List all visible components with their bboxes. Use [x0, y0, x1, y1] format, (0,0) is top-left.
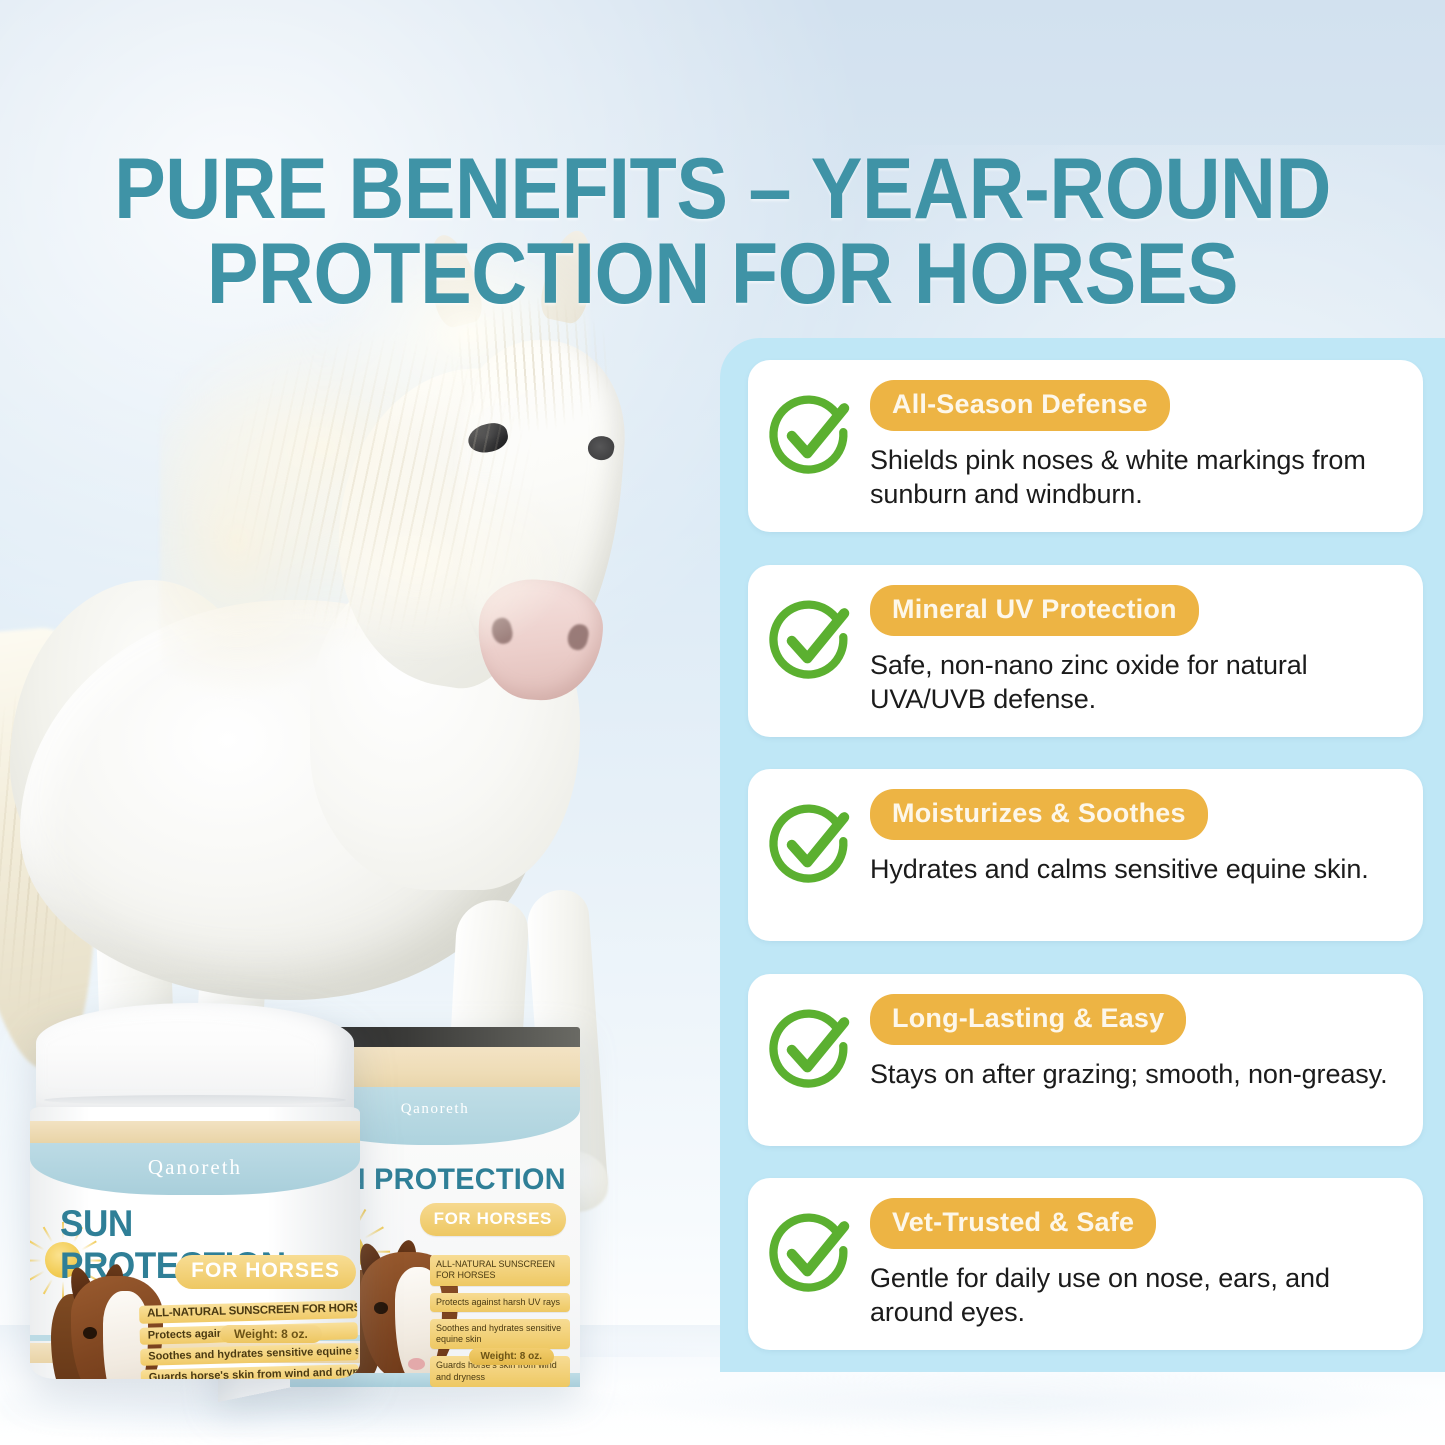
headline-line-2: PROTECTION FOR HORSES — [72, 232, 1373, 317]
foal-eye — [374, 1302, 389, 1314]
box-bullet: Protects against harsh UV rays — [430, 1293, 570, 1312]
box-benefit-list: ALL-NATURAL SUNSCREEN FOR HORSES Protect… — [430, 1255, 570, 1387]
benefit-card-content: Moisturizes & Soothes Hydrates and calms… — [870, 785, 1403, 886]
benefit-description: Stays on after grazing; smooth, non-grea… — [870, 1057, 1403, 1091]
jar-weight-label: Weight: 8 oz. — [220, 1325, 322, 1343]
benefit-card-all-season-defense[interactable]: All-Season Defense Shields pink noses & … — [748, 360, 1423, 532]
green-check-circle-icon — [766, 593, 858, 685]
jar-brand-name: Qanoreth — [30, 1155, 360, 1180]
benefit-badge: Vet-Trusted & Safe — [870, 1198, 1156, 1249]
benefit-description: Safe, non-nano zinc oxide for natural UV… — [870, 648, 1403, 716]
benefit-badge: Moisturizes & Soothes — [870, 789, 1208, 840]
benefit-description: Shields pink noses & white markings from… — [870, 443, 1403, 511]
benefit-card-content: Long-Lasting & Easy Stays on after grazi… — [870, 990, 1403, 1091]
benefit-description: Hydrates and calms sensitive equine skin… — [870, 852, 1403, 886]
benefit-description: Gentle for daily use on nose, ears, and … — [870, 1261, 1403, 1329]
box-product-subtitle: FOR HORSES — [420, 1203, 566, 1236]
box-weight-label: Weight: 8 oz. — [469, 1348, 554, 1365]
benefit-card-moisturizes-soothes[interactable]: Moisturizes & Soothes Hydrates and calms… — [748, 769, 1423, 941]
product-group: Qanoreth SUN PROTECTION FOR HORSES — [0, 1015, 740, 1445]
jar-bullet: Guards horse's skin from wind and drynes… — [141, 1364, 359, 1379]
jar-band-top — [30, 1121, 360, 1143]
benefit-card-vet-trusted-safe[interactable]: Vet-Trusted & Safe Gentle for daily use … — [748, 1178, 1423, 1350]
scene-stage: PURE BENEFITS – YEAR-ROUND PROTECTION FO… — [0, 0, 1445, 1445]
foal-eye — [83, 1327, 97, 1339]
benefit-card-mineral-uv-protection[interactable]: Mineral UV Protection Safe, non-nano zin… — [748, 565, 1423, 737]
benefit-badge: Mineral UV Protection — [870, 585, 1199, 636]
jar-product-subtitle: FOR HORSES — [175, 1255, 356, 1289]
green-check-circle-icon — [766, 1002, 858, 1094]
product-jar[interactable]: Qanoreth SUN PROTECTION FOR HORSES — [30, 1003, 360, 1393]
headline-line-1: PURE BENEFITS – YEAR-ROUND — [114, 141, 1331, 237]
benefits-panel: All-Season Defense Shields pink noses & … — [720, 338, 1445, 1372]
benefit-card-content: Vet-Trusted & Safe Gentle for daily use … — [870, 1194, 1403, 1329]
green-check-circle-icon — [766, 1206, 858, 1298]
jar-lid-seam — [44, 1095, 346, 1105]
jar-bullet: Soothes and hydrates sensitive equine sk… — [140, 1343, 358, 1366]
benefit-card-content: Mineral UV Protection Safe, non-nano zin… — [870, 581, 1403, 716]
benefit-badge: All-Season Defense — [870, 380, 1170, 431]
box-bullet: ALL-NATURAL SUNSCREEN FOR HORSES — [430, 1255, 570, 1286]
box-bullet: Soothes and hydrates sensitive equine sk… — [430, 1319, 570, 1350]
green-check-circle-icon — [766, 388, 858, 480]
benefit-badge: Long-Lasting & Easy — [870, 994, 1186, 1045]
benefit-card-long-lasting-easy[interactable]: Long-Lasting & Easy Stays on after grazi… — [748, 974, 1423, 1146]
jar-bullet: ALL-NATURAL SUNSCREEN FOR HORSES — [139, 1300, 357, 1323]
green-check-circle-icon — [766, 797, 858, 889]
jar-label: Qanoreth SUN PROTECTION FOR HORSES — [30, 1107, 360, 1379]
benefit-card-content: All-Season Defense Shields pink noses & … — [870, 376, 1403, 511]
